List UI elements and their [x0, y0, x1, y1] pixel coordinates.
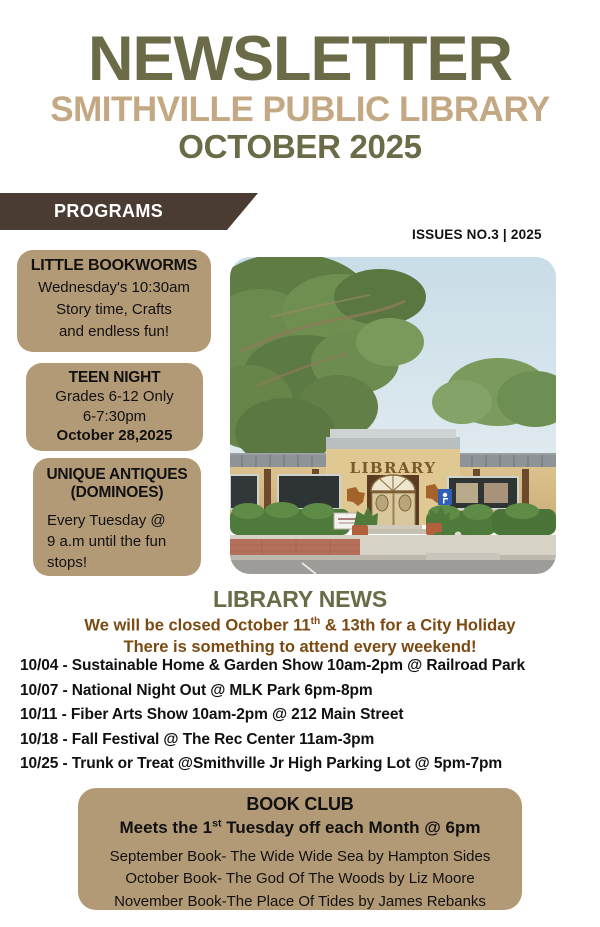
program-card-line: and endless fun!: [27, 322, 201, 342]
event-item: 10/11 - Fiber Arts Show 10am-2pm @ 212 M…: [20, 707, 590, 723]
program-card-little-bookworms: LITTLE BOOKWORMS Wednesday's 10:30am Sto…: [17, 250, 211, 352]
newsletter-page: NEWSLETTER SMITHVILLE PUBLIC LIBRARY OCT…: [0, 0, 600, 927]
library-news-heading: LIBRARY NEWS: [0, 586, 600, 613]
program-card-title: UNIQUE ANTIQUES: [43, 466, 191, 484]
program-card-unique-antiques: UNIQUE ANTIQUES (DOMINOES) Every Tuesday…: [33, 458, 201, 576]
program-card-line: 6-7:30pm: [36, 407, 193, 427]
closure-text-post: & 13th for a City Holiday: [320, 617, 515, 635]
book-club-title: BOOK CLUB: [78, 794, 522, 816]
newsletter-title: NEWSLETTER: [0, 30, 600, 90]
program-card-line: Story time, Crafts: [27, 300, 201, 320]
book-club-item: September Book- The Wide Wide Sea by Ham…: [78, 846, 522, 869]
program-card-line: Wednesday's 10:30am: [27, 278, 201, 298]
book-club-schedule: Meets the 1st Tuesday off each Month @ 6…: [78, 817, 522, 839]
program-card-subtitle: (DOMINOES): [43, 484, 191, 502]
issue-number: ISSUES NO.3 | 2025: [412, 227, 542, 242]
book-club-item: November Book-The Place Of Tides by Jame…: [78, 891, 522, 914]
program-card-line: 9 a.m until the fun: [47, 531, 191, 552]
programs-banner: PROGRAMS: [0, 193, 258, 230]
program-card-line: Every Tuesday @: [47, 510, 191, 531]
event-item: 10/07 - National Night Out @ MLK Park 6p…: [20, 683, 590, 699]
event-item: 10/18 - Fall Festival @ The Rec Center 1…: [20, 732, 590, 748]
book-club-item: October Book- The God Of The Woods by Li…: [78, 868, 522, 891]
holiday-closure-line: We will be closed October 11th & 13th fo…: [0, 615, 600, 637]
library-name: SMITHVILLE PUBLIC LIBRARY: [0, 92, 600, 129]
event-item: 10/25 - Trunk or Treat @Smithville Jr Hi…: [20, 756, 590, 772]
book-club-panel: BOOK CLUB Meets the 1st Tuesday off each…: [78, 788, 522, 910]
events-list: 10/04 - Sustainable Home & Garden Show 1…: [20, 658, 590, 781]
program-card-teen-night: TEEN NIGHT Grades 6-12 Only 6-7:30pm Oct…: [26, 363, 203, 451]
closure-text-pre: We will be closed October 11: [84, 617, 310, 635]
library-building-photo: LIBRARY: [230, 257, 556, 574]
library-photo-illustration: LIBRARY: [230, 257, 556, 574]
program-card-line: stops!: [47, 552, 191, 573]
programs-banner-label: PROGRAMS: [54, 201, 163, 222]
program-card-line: Grades 6-12 Only: [36, 387, 193, 407]
schedule-text-post: Tuesday off each Month @ 6pm: [221, 818, 480, 837]
program-card-title: LITTLE BOOKWORMS: [27, 257, 201, 276]
event-item: 10/04 - Sustainable Home & Garden Show 1…: [20, 658, 590, 674]
program-card-title: TEEN NIGHT: [36, 369, 193, 387]
masthead: NEWSLETTER SMITHVILLE PUBLIC LIBRARY OCT…: [0, 0, 600, 188]
program-card-body: Every Tuesday @ 9 a.m until the fun stop…: [43, 510, 191, 574]
issue-month: OCTOBER 2025: [0, 130, 600, 165]
book-club-selections: September Book- The Wide Wide Sea by Ham…: [78, 846, 522, 914]
ordinal-suffix: th: [311, 616, 321, 627]
program-card-line: October 28,2025: [36, 426, 193, 446]
schedule-text-pre: Meets the 1: [120, 818, 213, 837]
library-news-notice: We will be closed October 11th & 13th fo…: [0, 615, 600, 659]
